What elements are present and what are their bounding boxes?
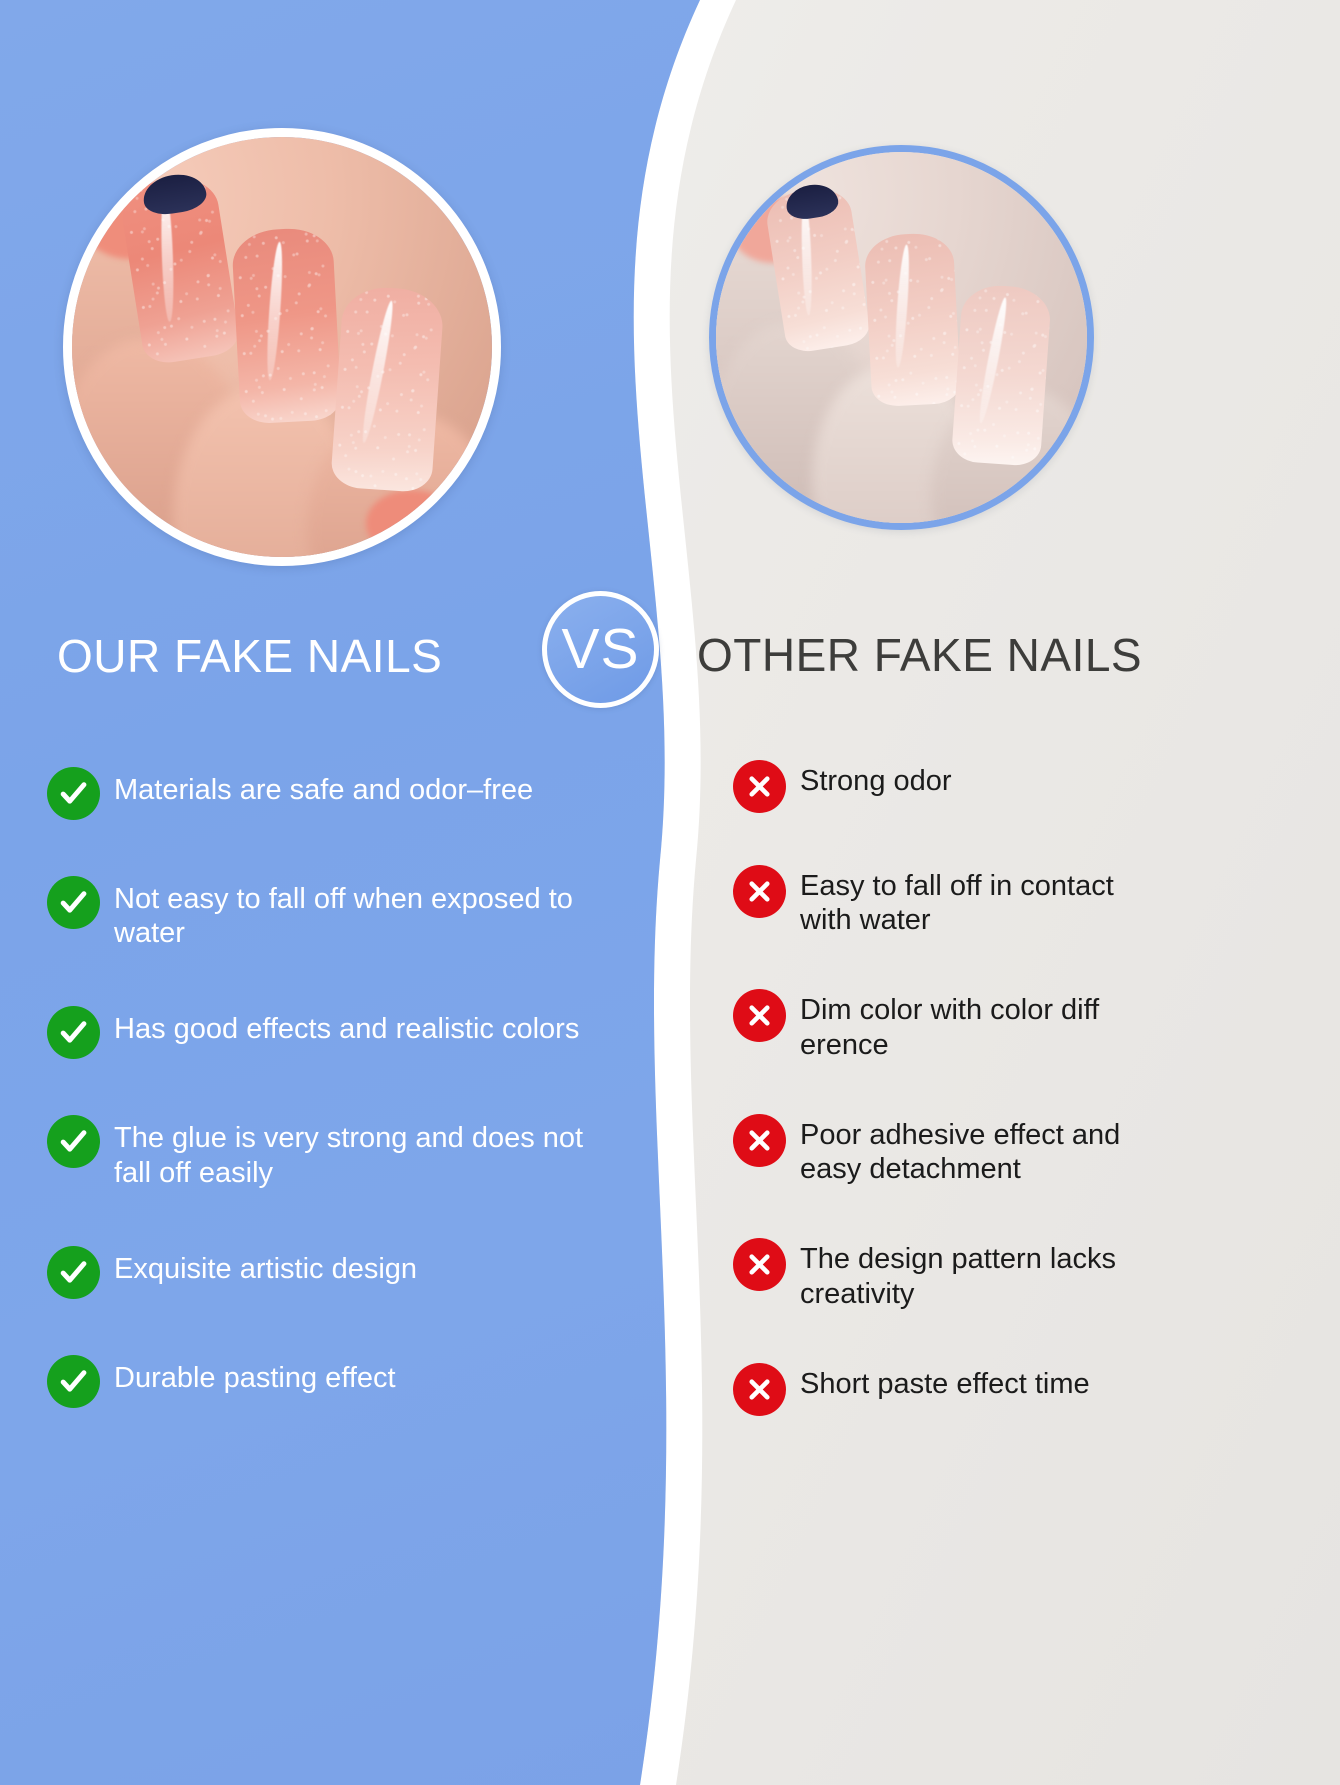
check-circle-icon [47, 1115, 100, 1168]
list-item-text: Poor adhesive effect and easy detachment [800, 1112, 1120, 1186]
check-circle-icon [47, 876, 100, 929]
list-item-line1: Materials are safe and odor–free [114, 774, 533, 806]
cross-circle-icon [733, 989, 786, 1042]
list-item-line2: easy detachment [800, 1152, 1120, 1186]
list-item-line1: Has good effects and realistic colors [114, 1013, 579, 1045]
list-item: The design pattern lacks creativity [733, 1236, 1188, 1310]
list-item-text: The design pattern lacks creativity [800, 1236, 1116, 1310]
list-item-text: Exquisite artistic design [114, 1244, 417, 1286]
list-item-text: Not easy to fall off when exposed to wat… [114, 874, 573, 950]
list-item: Materials are safe and odor–free [47, 765, 677, 820]
our-nails-benefit-list: Materials are safe and odor–free Not eas… [47, 765, 677, 1462]
list-item: Not easy to fall off when exposed to wat… [47, 874, 677, 950]
list-item-line2: with water [800, 903, 1114, 937]
comparison-infographic: OUR FAKE NAILS OTHER FAKE NAILS VS Mater… [0, 0, 1340, 1785]
check-circle-icon [47, 767, 100, 820]
list-item: The glue is very strong and does not fal… [47, 1113, 677, 1189]
list-item-line2: fall off easily [114, 1156, 583, 1190]
cross-circle-icon [733, 1114, 786, 1167]
list-item: Strong odor [733, 758, 1188, 813]
vs-badge: VS [542, 591, 659, 708]
list-item-line1: The glue is very strong and does not [114, 1122, 583, 1154]
list-item-text: Has good effects and realistic colors [114, 1004, 579, 1046]
our-nails-photo [63, 128, 501, 566]
list-item-line2: erence [800, 1028, 1099, 1062]
list-item-text: Durable pasting effect [114, 1353, 396, 1395]
list-item: Has good effects and realistic colors [47, 1004, 677, 1059]
list-item-line1: Strong odor [800, 765, 952, 797]
list-item-text: Dim color with color diff erence [800, 987, 1099, 1061]
check-circle-icon [47, 1246, 100, 1299]
list-item: Short paste effect time [733, 1361, 1188, 1416]
list-item: Easy to fall off in contact with water [733, 863, 1188, 937]
list-item-line1: Poor adhesive effect and [800, 1119, 1120, 1151]
list-item-text: The glue is very strong and does not fal… [114, 1113, 583, 1189]
left-heading: OUR FAKE NAILS [57, 629, 442, 683]
list-item-text: Strong odor [800, 758, 952, 798]
list-item-text: Short paste effect time [800, 1361, 1090, 1401]
right-heading: OTHER FAKE NAILS [697, 628, 1142, 682]
list-item-line1: Easy to fall off in contact [800, 870, 1114, 902]
cross-circle-icon [733, 760, 786, 813]
check-circle-icon [47, 1355, 100, 1408]
list-item-line1: The design pattern lacks [800, 1243, 1116, 1275]
vs-label: VS [561, 621, 639, 678]
list-item-text: Materials are safe and odor–free [114, 765, 533, 807]
list-item-line2: water [114, 916, 573, 950]
list-item: Durable pasting effect [47, 1353, 677, 1408]
cross-circle-icon [733, 865, 786, 918]
cross-circle-icon [733, 1238, 786, 1291]
list-item-line1: Durable pasting effect [114, 1362, 396, 1394]
list-item-text: Easy to fall off in contact with water [800, 863, 1114, 937]
list-item-line1: Exquisite artistic design [114, 1253, 417, 1285]
cross-circle-icon [733, 1363, 786, 1416]
list-item-line1: Not easy to fall off when exposed to [114, 883, 573, 915]
list-item-line1: Dim color with color diff [800, 994, 1099, 1026]
other-nails-drawback-list: Strong odor Easy to fall off in contact … [733, 758, 1188, 1466]
check-circle-icon [47, 1006, 100, 1059]
other-nails-photo [709, 145, 1094, 530]
list-item-line1: Short paste effect time [800, 1368, 1090, 1400]
list-item: Exquisite artistic design [47, 1244, 677, 1299]
list-item: Dim color with color diff erence [733, 987, 1188, 1061]
list-item-line2: creativity [800, 1277, 1116, 1311]
list-item: Poor adhesive effect and easy detachment [733, 1112, 1188, 1186]
